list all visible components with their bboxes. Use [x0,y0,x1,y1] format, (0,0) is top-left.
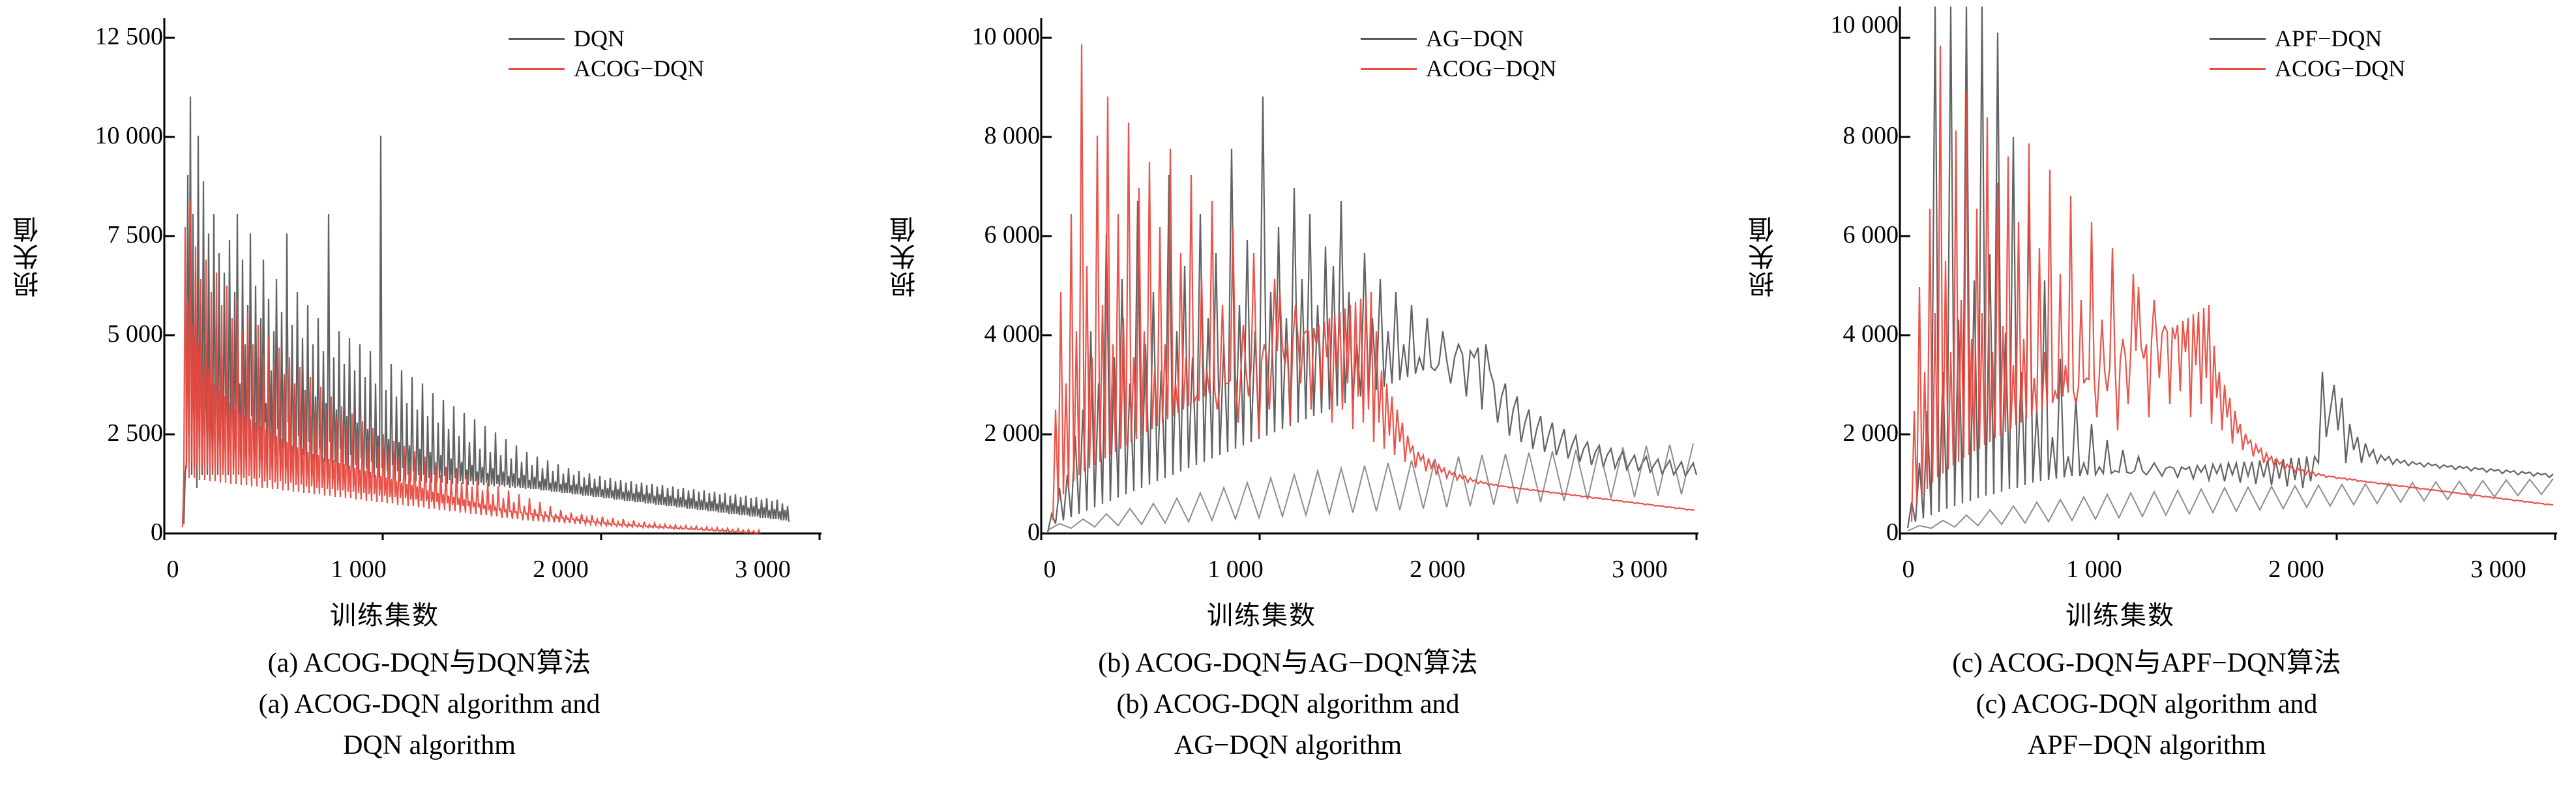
x-axis-label-b: 训练集数 [1099,594,1425,632]
y-tick-b-5: 10 000 [916,22,1040,51]
y-tick-c-5: 10 000 [1775,10,1899,39]
caption-a-en-2: DQN algorithm [0,728,859,764]
x-tick-b-2: 2 000 [1379,555,1496,584]
x-tick-c-1: 1 000 [2036,555,2153,584]
y-tick-c-1: 2 000 [1775,419,1899,447]
caption-c-cn: (c) ACOG-DQN与APF−DQN算法 [1717,646,2576,681]
y-tick-b-4: 8 000 [916,121,1040,150]
y-tick-c-0: 0 [1775,518,1899,546]
x-tick-a-0: 0 [140,555,205,584]
plot-a [163,18,822,540]
panel-b: 损失值 0 2 000 4 000 6 000 8 000 10 000 0 1… [859,4,1717,786]
caption-c-en-1: (c) ACOG-DQN algorithm and [1717,687,2576,723]
y-tick-c-3: 6 000 [1775,220,1899,249]
x-tick-a-2: 2 000 [502,555,619,584]
x-tick-c-3: 3 000 [2440,555,2557,584]
plot-b [1040,18,1698,540]
y-tick-a-0: 0 [39,518,163,546]
x-tick-b-1: 1 000 [1177,555,1294,584]
y-tick-c-2: 4 000 [1775,320,1899,348]
caption-b-en-1: (b) ACOG-DQN algorithm and [859,687,1717,723]
x-tick-b-3: 3 000 [1581,555,1698,584]
x-tick-c-0: 0 [1876,555,1941,584]
x-tick-c-2: 2 000 [2238,555,2355,584]
caption-c-en-2: APF−DQN algorithm [1717,728,2576,764]
y-tick-a-5: 12 500 [39,22,163,51]
y-tick-b-2: 4 000 [916,320,1040,348]
y-tick-a-4: 10 000 [39,121,163,150]
x-tick-b-0: 0 [1017,555,1082,584]
y-tick-b-0: 0 [916,518,1040,546]
panel-a: 损失值 0 2 500 5 000 7 500 10 000 12 500 0 … [0,4,859,786]
caption-b-cn: (b) ACOG-DQN与AG−DQN算法 [859,646,1717,681]
panel-c: 损失值 0 2 000 4 000 6 000 8 000 10 000 0 1… [1717,4,2576,786]
y-tick-a-3: 7 500 [39,220,163,249]
y-tick-a-2: 5 000 [39,320,163,348]
plot-c [1899,7,2557,540]
caption-a-en-1: (a) ACOG-DQN algorithm and [0,687,859,723]
x-axis-label-c: 训练集数 [1957,594,2283,632]
x-tick-a-3: 3 000 [704,555,822,584]
y-tick-c-4: 8 000 [1775,121,1899,150]
figure-container: 损失值 0 2 500 5 000 7 500 10 000 12 500 0 … [0,0,2576,793]
caption-b-en-2: AG−DQN algorithm [859,728,1717,764]
x-axis-label-a: 训练集数 [222,594,548,632]
caption-a-cn: (a) ACOG-DQN与DQN算法 [0,646,859,681]
y-tick-b-1: 2 000 [916,419,1040,447]
y-tick-b-3: 6 000 [916,220,1040,249]
y-tick-a-1: 2 500 [39,419,163,447]
x-tick-a-1: 1 000 [300,555,417,584]
